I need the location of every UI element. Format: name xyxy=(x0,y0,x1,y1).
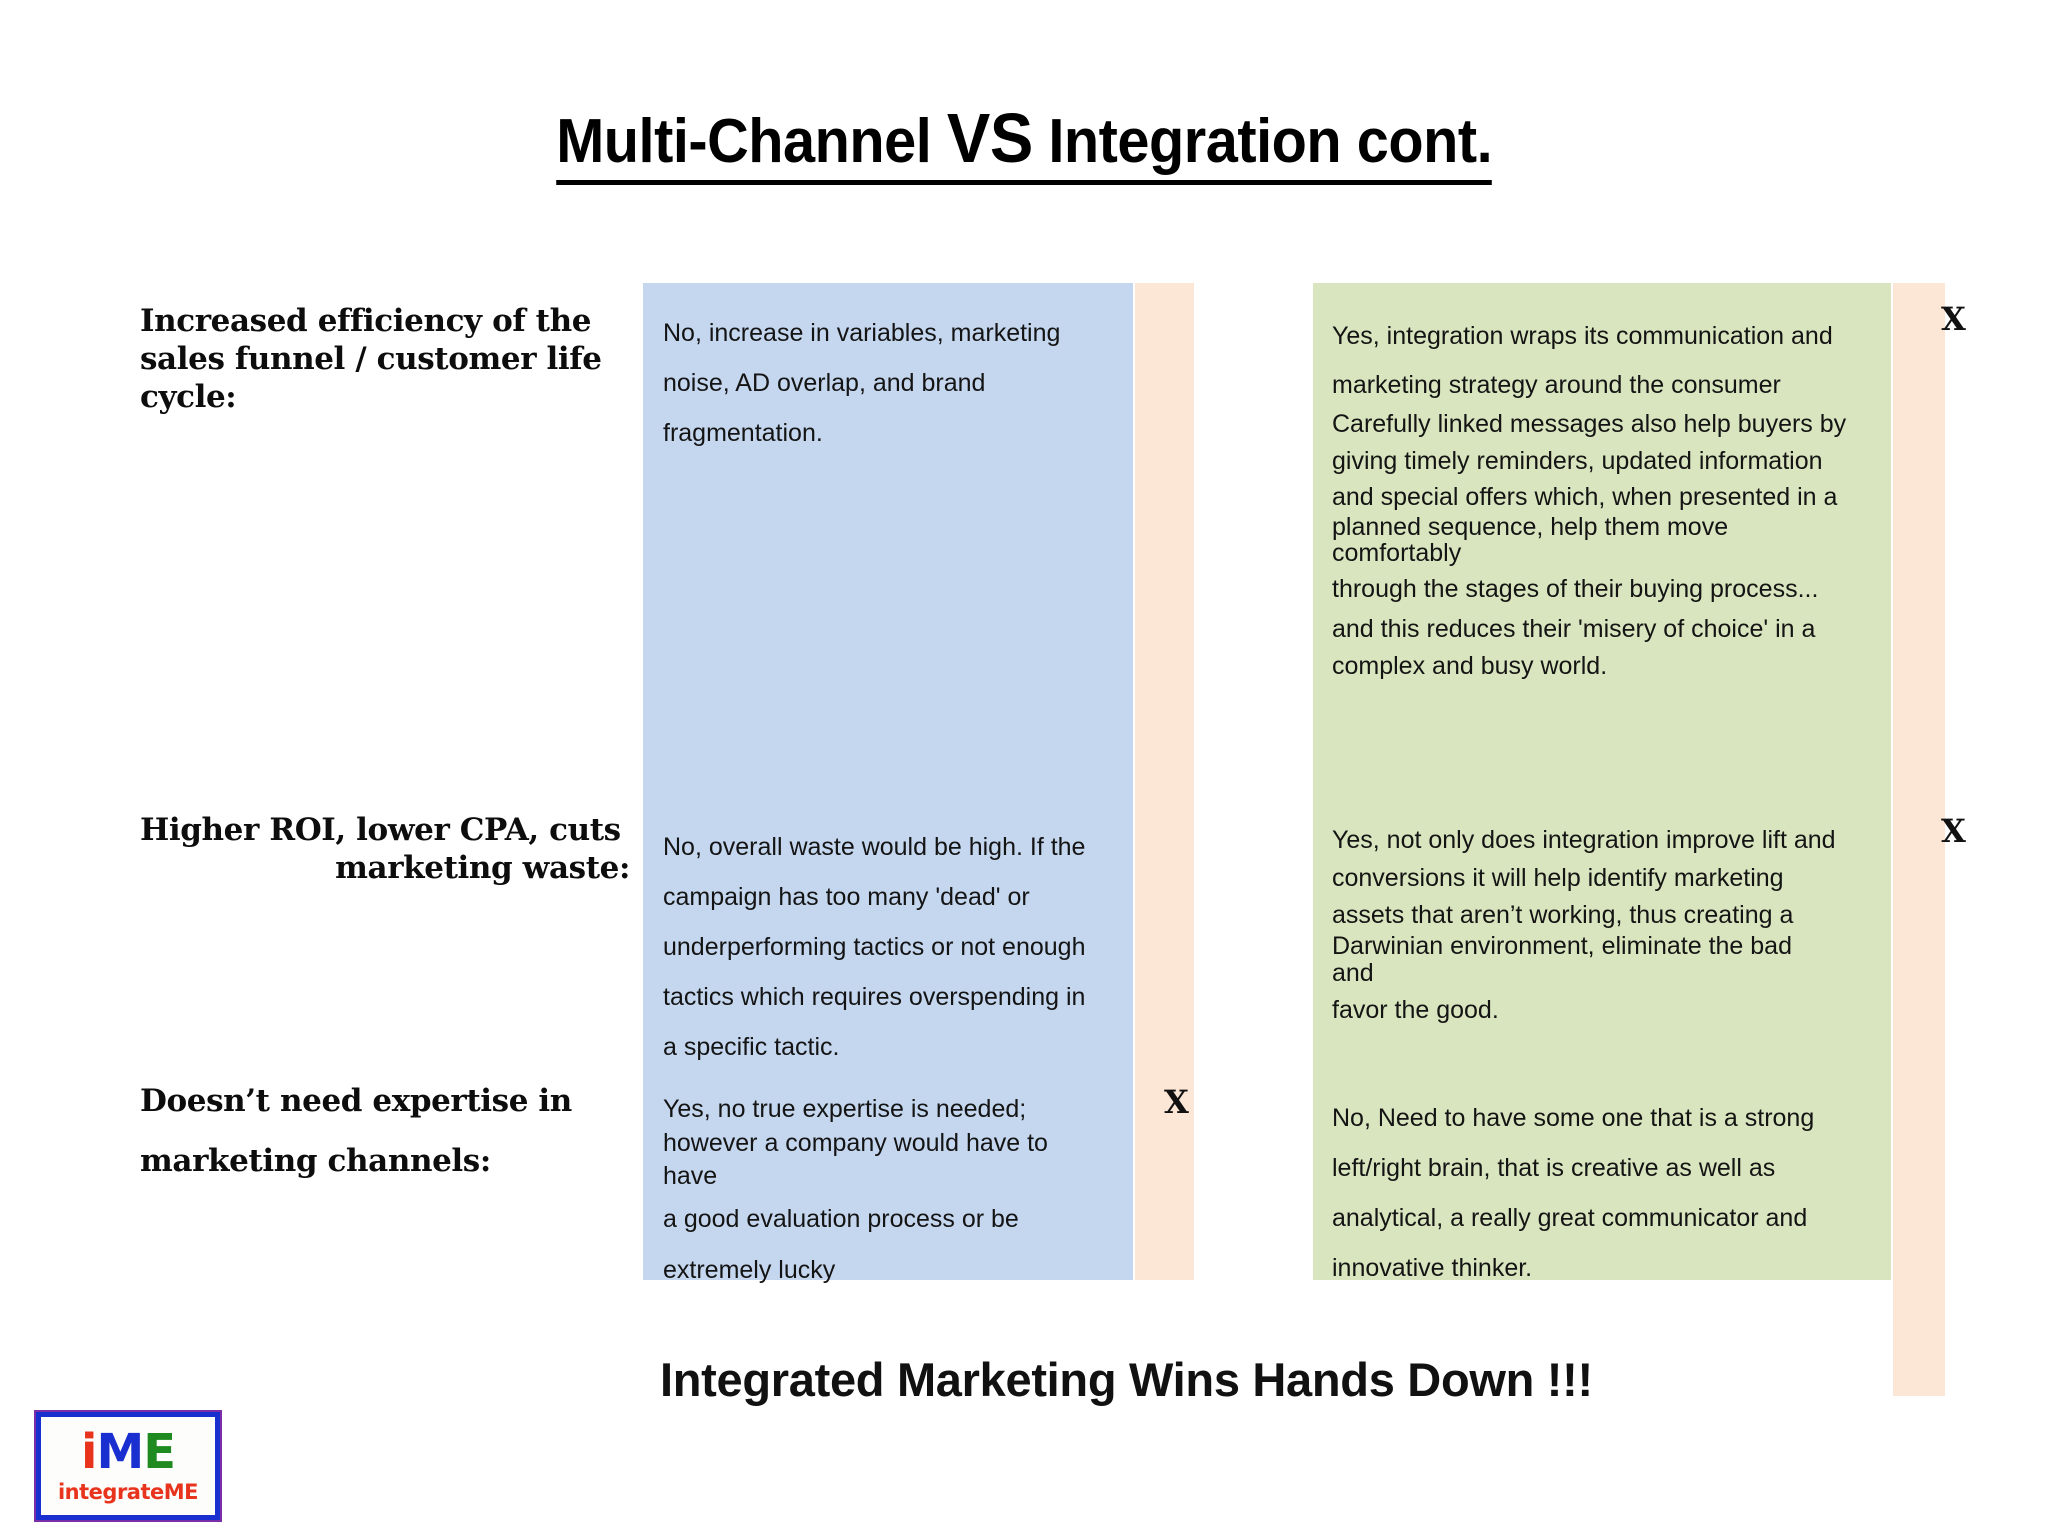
cell-line: and this reduces their 'misery of choice… xyxy=(1332,611,1846,648)
row-label-line: Doesn’t need expertise in xyxy=(140,1083,610,1121)
winner-mark-roi: X xyxy=(1941,812,1966,850)
cell-line: tactics which requires overspending in xyxy=(663,972,1085,1022)
cell-line: No, Need to have some one that is a stro… xyxy=(1332,1093,1814,1143)
cell-line: however a company would have to xyxy=(663,1127,1048,1161)
integration-cell-roi: Yes, not only does integration improve l… xyxy=(1332,822,1836,1035)
page-title: Multi-Channel VS Integration cont. xyxy=(0,98,2048,185)
row-label-line: cycle: xyxy=(140,379,610,417)
cell-line: Yes, no true expertise is needed; xyxy=(663,1093,1048,1127)
cell-line: Darwinian environment, eliminate the bad xyxy=(1332,933,1836,960)
cell-line: Yes, integration wraps its communication… xyxy=(1332,308,1846,365)
cell-line: left/right brain, that is creative as we… xyxy=(1332,1143,1814,1193)
logo-mark: iME xyxy=(81,1428,175,1476)
integration-cell-expertise: No, Need to have some one that is a stro… xyxy=(1332,1093,1814,1293)
cell-line: campaign has too many 'dead' or xyxy=(663,872,1085,922)
cell-line: comfortably xyxy=(1332,540,1846,566)
cell-line: have xyxy=(663,1160,1048,1194)
cell-line: conversions it will help identify market… xyxy=(1332,860,1836,898)
multichannel-accent-strip xyxy=(1135,283,1194,1280)
integration-accent-strip xyxy=(1893,283,1945,1396)
row-label-line: sales funnel / customer life xyxy=(140,341,610,379)
row-label-line: Increased efficiency of the xyxy=(140,303,610,341)
logo-letter-i: i xyxy=(81,1424,96,1480)
row-label-line: marketing waste: xyxy=(140,850,630,888)
cell-line: No, overall waste would be high. If the xyxy=(663,822,1085,872)
multichannel-cell-roi: No, overall waste would be high. If the … xyxy=(663,822,1085,1072)
cell-line: Yes, not only does integration improve l… xyxy=(1332,822,1836,860)
cell-line: noise, AD overlap, and brand xyxy=(663,358,1060,408)
cell-line: complex and busy world. xyxy=(1332,648,1846,685)
page-title-part2: Integration cont. xyxy=(1033,107,1492,176)
row-label-expertise: Doesn’t need expertise in marketing chan… xyxy=(140,1083,610,1181)
cell-line: underperforming tactics or not enough xyxy=(663,922,1085,972)
cell-line: marketing strategy around the consumer xyxy=(1332,365,1846,406)
logo-wordmark: integrateME xyxy=(58,1480,198,1504)
cell-line: giving timely reminders, updated informa… xyxy=(1332,443,1846,480)
cell-line: through the stages of their buying proce… xyxy=(1332,567,1846,612)
slide-canvas: Multi-Channel VS Integration cont. Incre… xyxy=(0,0,2048,1536)
winner-mark-efficiency: X xyxy=(1941,300,1966,338)
cell-line: a good evaluation process or be xyxy=(663,1194,1048,1245)
row-label-line: marketing channels: xyxy=(140,1143,610,1181)
logo-letter-m: M xyxy=(96,1424,143,1480)
page-title-underline: Multi-Channel VS Integration cont. xyxy=(556,98,1492,185)
row-label-line: Higher ROI, lower CPA, cuts xyxy=(140,812,630,850)
cell-line: extremely lucky xyxy=(663,1245,1048,1296)
integrateme-logo: iME integrateME xyxy=(36,1412,220,1520)
multichannel-cell-expertise: Yes, no true expertise is needed; howeve… xyxy=(663,1093,1048,1296)
winner-mark-expertise: X xyxy=(1164,1083,1189,1121)
cell-line: No, increase in variables, marketing xyxy=(663,308,1060,358)
cell-line: and special offers which, when presented… xyxy=(1332,480,1846,515)
conclusion-tagline: Integrated Marketing Wins Hands Down !!! xyxy=(660,1352,1593,1407)
cell-line: planned sequence, help them move xyxy=(1332,514,1846,540)
page-title-vs: VS xyxy=(947,99,1033,177)
integration-cell-efficiency: Yes, integration wraps its communication… xyxy=(1332,308,1846,685)
page-title-part1: Multi-Channel xyxy=(556,107,947,176)
cell-line: and xyxy=(1332,960,1836,987)
cell-line: a specific tactic. xyxy=(663,1022,1085,1072)
multichannel-cell-efficiency: No, increase in variables, marketing noi… xyxy=(663,308,1060,458)
cell-line: favor the good. xyxy=(1332,986,1836,1035)
row-label-efficiency: Increased efficiency of the sales funnel… xyxy=(140,303,610,416)
logo-letter-e: E xyxy=(143,1424,175,1480)
row-label-roi: Higher ROI, lower CPA, cuts marketing wa… xyxy=(140,812,630,888)
cell-line: assets that aren’t working, thus creatin… xyxy=(1332,897,1836,933)
cell-line: Carefully linked messages also help buye… xyxy=(1332,406,1846,443)
cell-line: analytical, a really great communicator … xyxy=(1332,1193,1814,1243)
cell-line: innovative thinker. xyxy=(1332,1243,1814,1293)
cell-line: fragmentation. xyxy=(663,408,1060,458)
